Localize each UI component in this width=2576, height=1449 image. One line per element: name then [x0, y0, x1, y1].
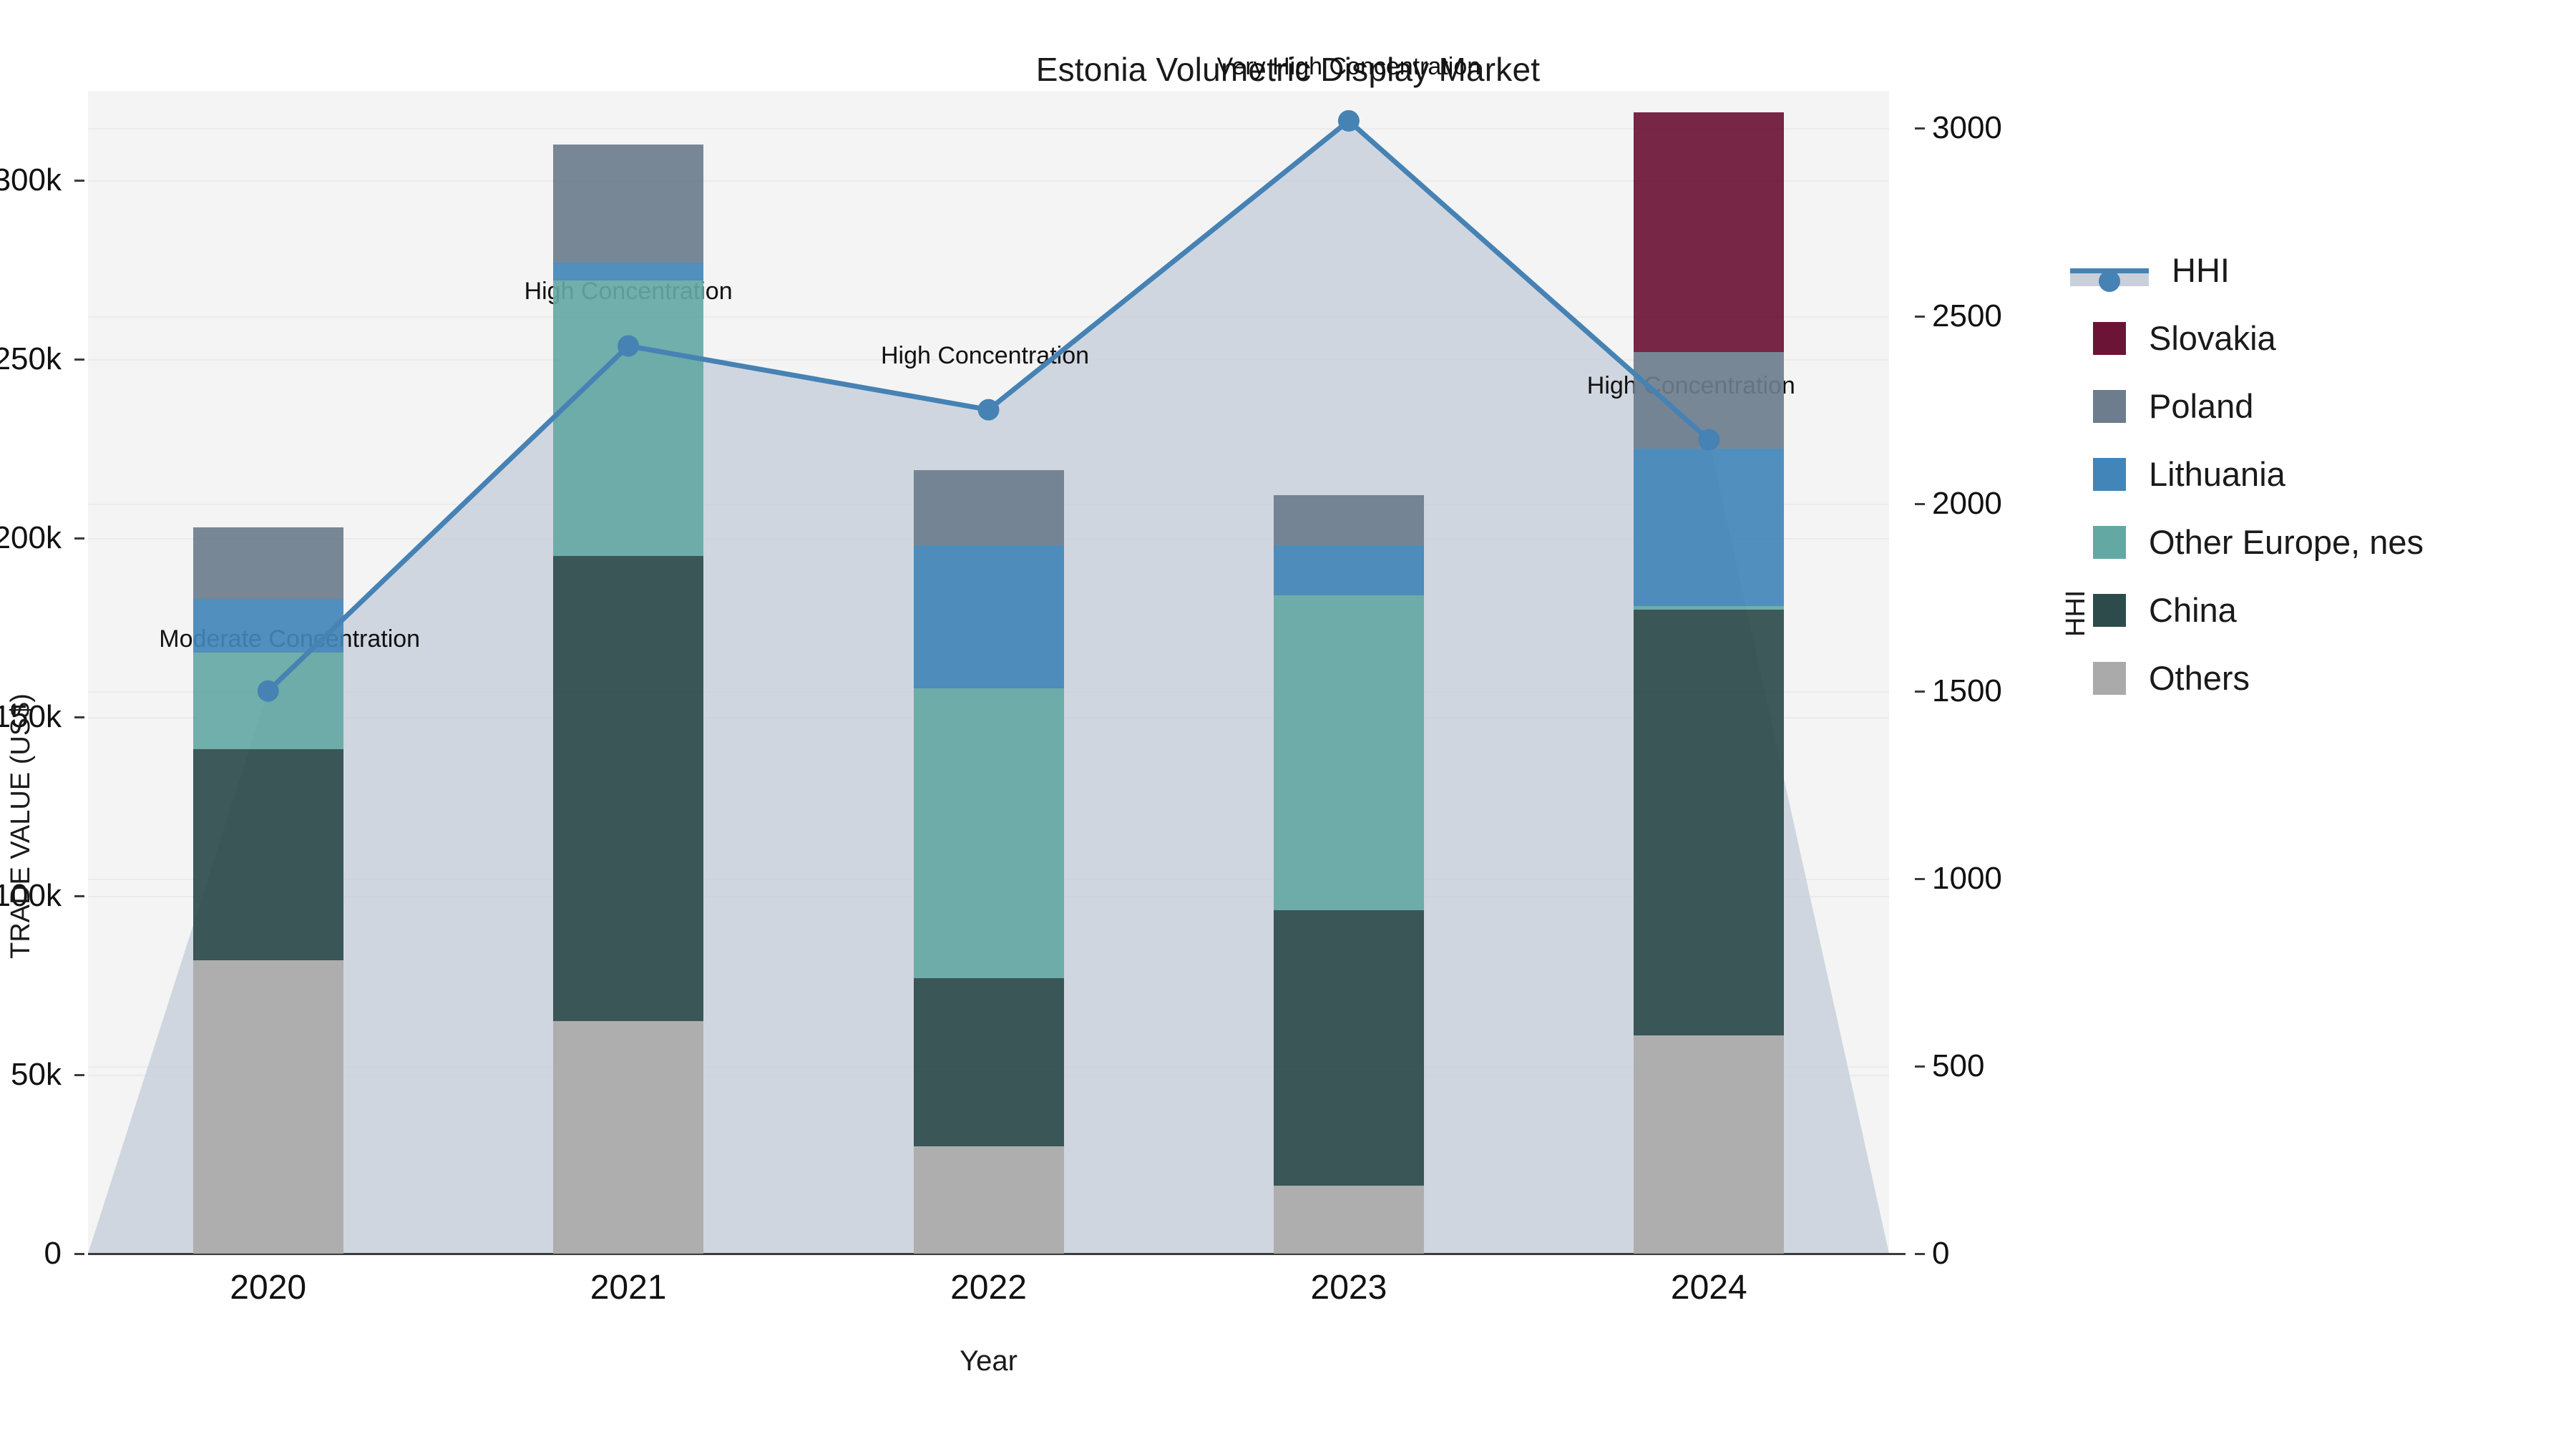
y-axis-right-tick-label: 0: [1932, 1236, 1949, 1272]
legend-color-swatch: [2093, 322, 2126, 355]
y-axis-right-label: HHI: [2061, 590, 2092, 637]
y-axis-left-tickmark: [74, 537, 84, 540]
y-axis-right-ticks: 050010001500200025003000: [1915, 0, 2101, 1449]
bar-segment[interactable]: [1634, 352, 1784, 449]
legend-color-swatch: [2093, 458, 2126, 491]
bar-segment[interactable]: [553, 556, 703, 1021]
y-axis-right-tickmark: [1915, 316, 1925, 318]
y-axis-left-tick-label: 0: [44, 1236, 62, 1272]
bar-segment[interactable]: [914, 688, 1064, 978]
bar-segment[interactable]: [914, 470, 1064, 545]
y-axis-left-label: TRADE VALUE (US$): [6, 693, 36, 959]
y-axis-left-tick-label: 250k: [0, 341, 62, 377]
y-axis-right-tick-label: 2500: [1932, 298, 2002, 334]
bar-segment[interactable]: [914, 978, 1064, 1146]
legend-item-label: Other Europe, nes: [2149, 522, 2424, 562]
bar-segment[interactable]: [193, 749, 343, 960]
legend-item-label: Poland: [2149, 386, 2253, 426]
y-axis-right-tickmark: [1915, 1253, 1925, 1255]
y-axis-left-tickmark: [74, 358, 84, 361]
y-axis-left-tick-label: 300k: [0, 162, 62, 198]
bar-segment[interactable]: [1634, 1035, 1784, 1254]
legend-item[interactable]: Others: [2093, 644, 2551, 712]
y-axis-left-tickmark: [74, 1253, 84, 1255]
y-axis-left-tickmark: [74, 895, 84, 897]
bar-segment[interactable]: [1274, 545, 1424, 595]
chart-legend: HHISlovakiaPolandLithuaniaOther Europe, …: [2093, 236, 2551, 712]
x-axis-tick-label: 2020: [230, 1268, 306, 1307]
y-axis-left-tickmark: [74, 716, 84, 718]
bar-segment[interactable]: [193, 527, 343, 599]
hhi-annotation-label: High Concentration: [881, 342, 1089, 370]
legend-color-swatch: [2093, 526, 2126, 559]
y-axis-right-tick-label: 1500: [1932, 673, 2002, 709]
y-axis-right-tickmark: [1915, 127, 1925, 130]
y-axis-right-tickmark: [1915, 691, 1925, 693]
legend-item[interactable]: Other Europe, nes: [2093, 508, 2551, 576]
legend-item[interactable]: HHI: [2093, 236, 2551, 304]
bar-segment[interactable]: [553, 145, 703, 263]
bar-segment[interactable]: [193, 599, 343, 653]
bar-segment[interactable]: [1274, 1186, 1424, 1254]
bar-segment[interactable]: [1274, 495, 1424, 545]
hhi-annotation-label: Very High Concentration: [1217, 53, 1481, 81]
y-axis-right-tickmark: [1915, 503, 1925, 505]
legend-item[interactable]: Lithuania: [2093, 440, 2551, 508]
legend-item[interactable]: Poland: [2093, 372, 2551, 440]
bar-segment[interactable]: [1274, 910, 1424, 1186]
bar-segment[interactable]: [1634, 112, 1784, 352]
bar-segment[interactable]: [553, 263, 703, 280]
bar-segment[interactable]: [553, 1021, 703, 1254]
bar-segment[interactable]: [193, 960, 343, 1254]
x-axis-tick-label: 2024: [1671, 1268, 1747, 1307]
x-axis-label: Year: [88, 1345, 1889, 1377]
legend-color-swatch: [2093, 662, 2126, 695]
y-axis-right-tick-label: 2000: [1932, 486, 2002, 522]
legend-item-label: Others: [2149, 658, 2250, 698]
legend-item-label: HHI: [2172, 250, 2230, 290]
legend-color-swatch: [2093, 390, 2126, 423]
legend-item[interactable]: China: [2093, 576, 2551, 644]
legend-color-swatch: [2093, 594, 2126, 627]
legend-item-label: Lithuania: [2149, 454, 2285, 494]
legend-line-dot: [2099, 270, 2120, 292]
legend-line-marker-icon: [2070, 254, 2149, 287]
x-axis-tick-label: 2023: [1311, 1268, 1387, 1307]
bar-segment[interactable]: [1274, 595, 1424, 910]
bar-segment[interactable]: [193, 653, 343, 749]
bar-segment[interactable]: [1634, 606, 1784, 610]
y-axis-right-tickmark: [1915, 1065, 1925, 1068]
bar-segment[interactable]: [1634, 610, 1784, 1035]
bar-segment[interactable]: [553, 280, 703, 556]
bar-segment[interactable]: [1634, 449, 1784, 606]
y-axis-left-tick-label: 50k: [11, 1057, 62, 1093]
x-axis-tick-label: 2022: [950, 1268, 1027, 1307]
legend-item-label: Slovakia: [2149, 318, 2276, 358]
y-axis-left-tickmark: [74, 1074, 84, 1076]
y-axis-right-tick-label: 500: [1932, 1048, 1984, 1084]
y-axis-right-tickmark: [1915, 878, 1925, 880]
bar-segment[interactable]: [914, 545, 1064, 688]
legend-item-label: China: [2149, 590, 2237, 630]
chart-figure: Estonia Volumetric Display Market Import…: [0, 0, 2576, 1449]
y-axis-right-tick-label: 3000: [1932, 110, 2002, 146]
y-axis-left-tickmark: [74, 180, 84, 182]
legend-item[interactable]: Slovakia: [2093, 304, 2551, 372]
y-axis-right-tick-label: 1000: [1932, 861, 2002, 897]
x-axis-tick-label: 2021: [590, 1268, 667, 1307]
bar-segment[interactable]: [914, 1146, 1064, 1254]
y-axis-left-tick-label: 200k: [0, 520, 62, 556]
